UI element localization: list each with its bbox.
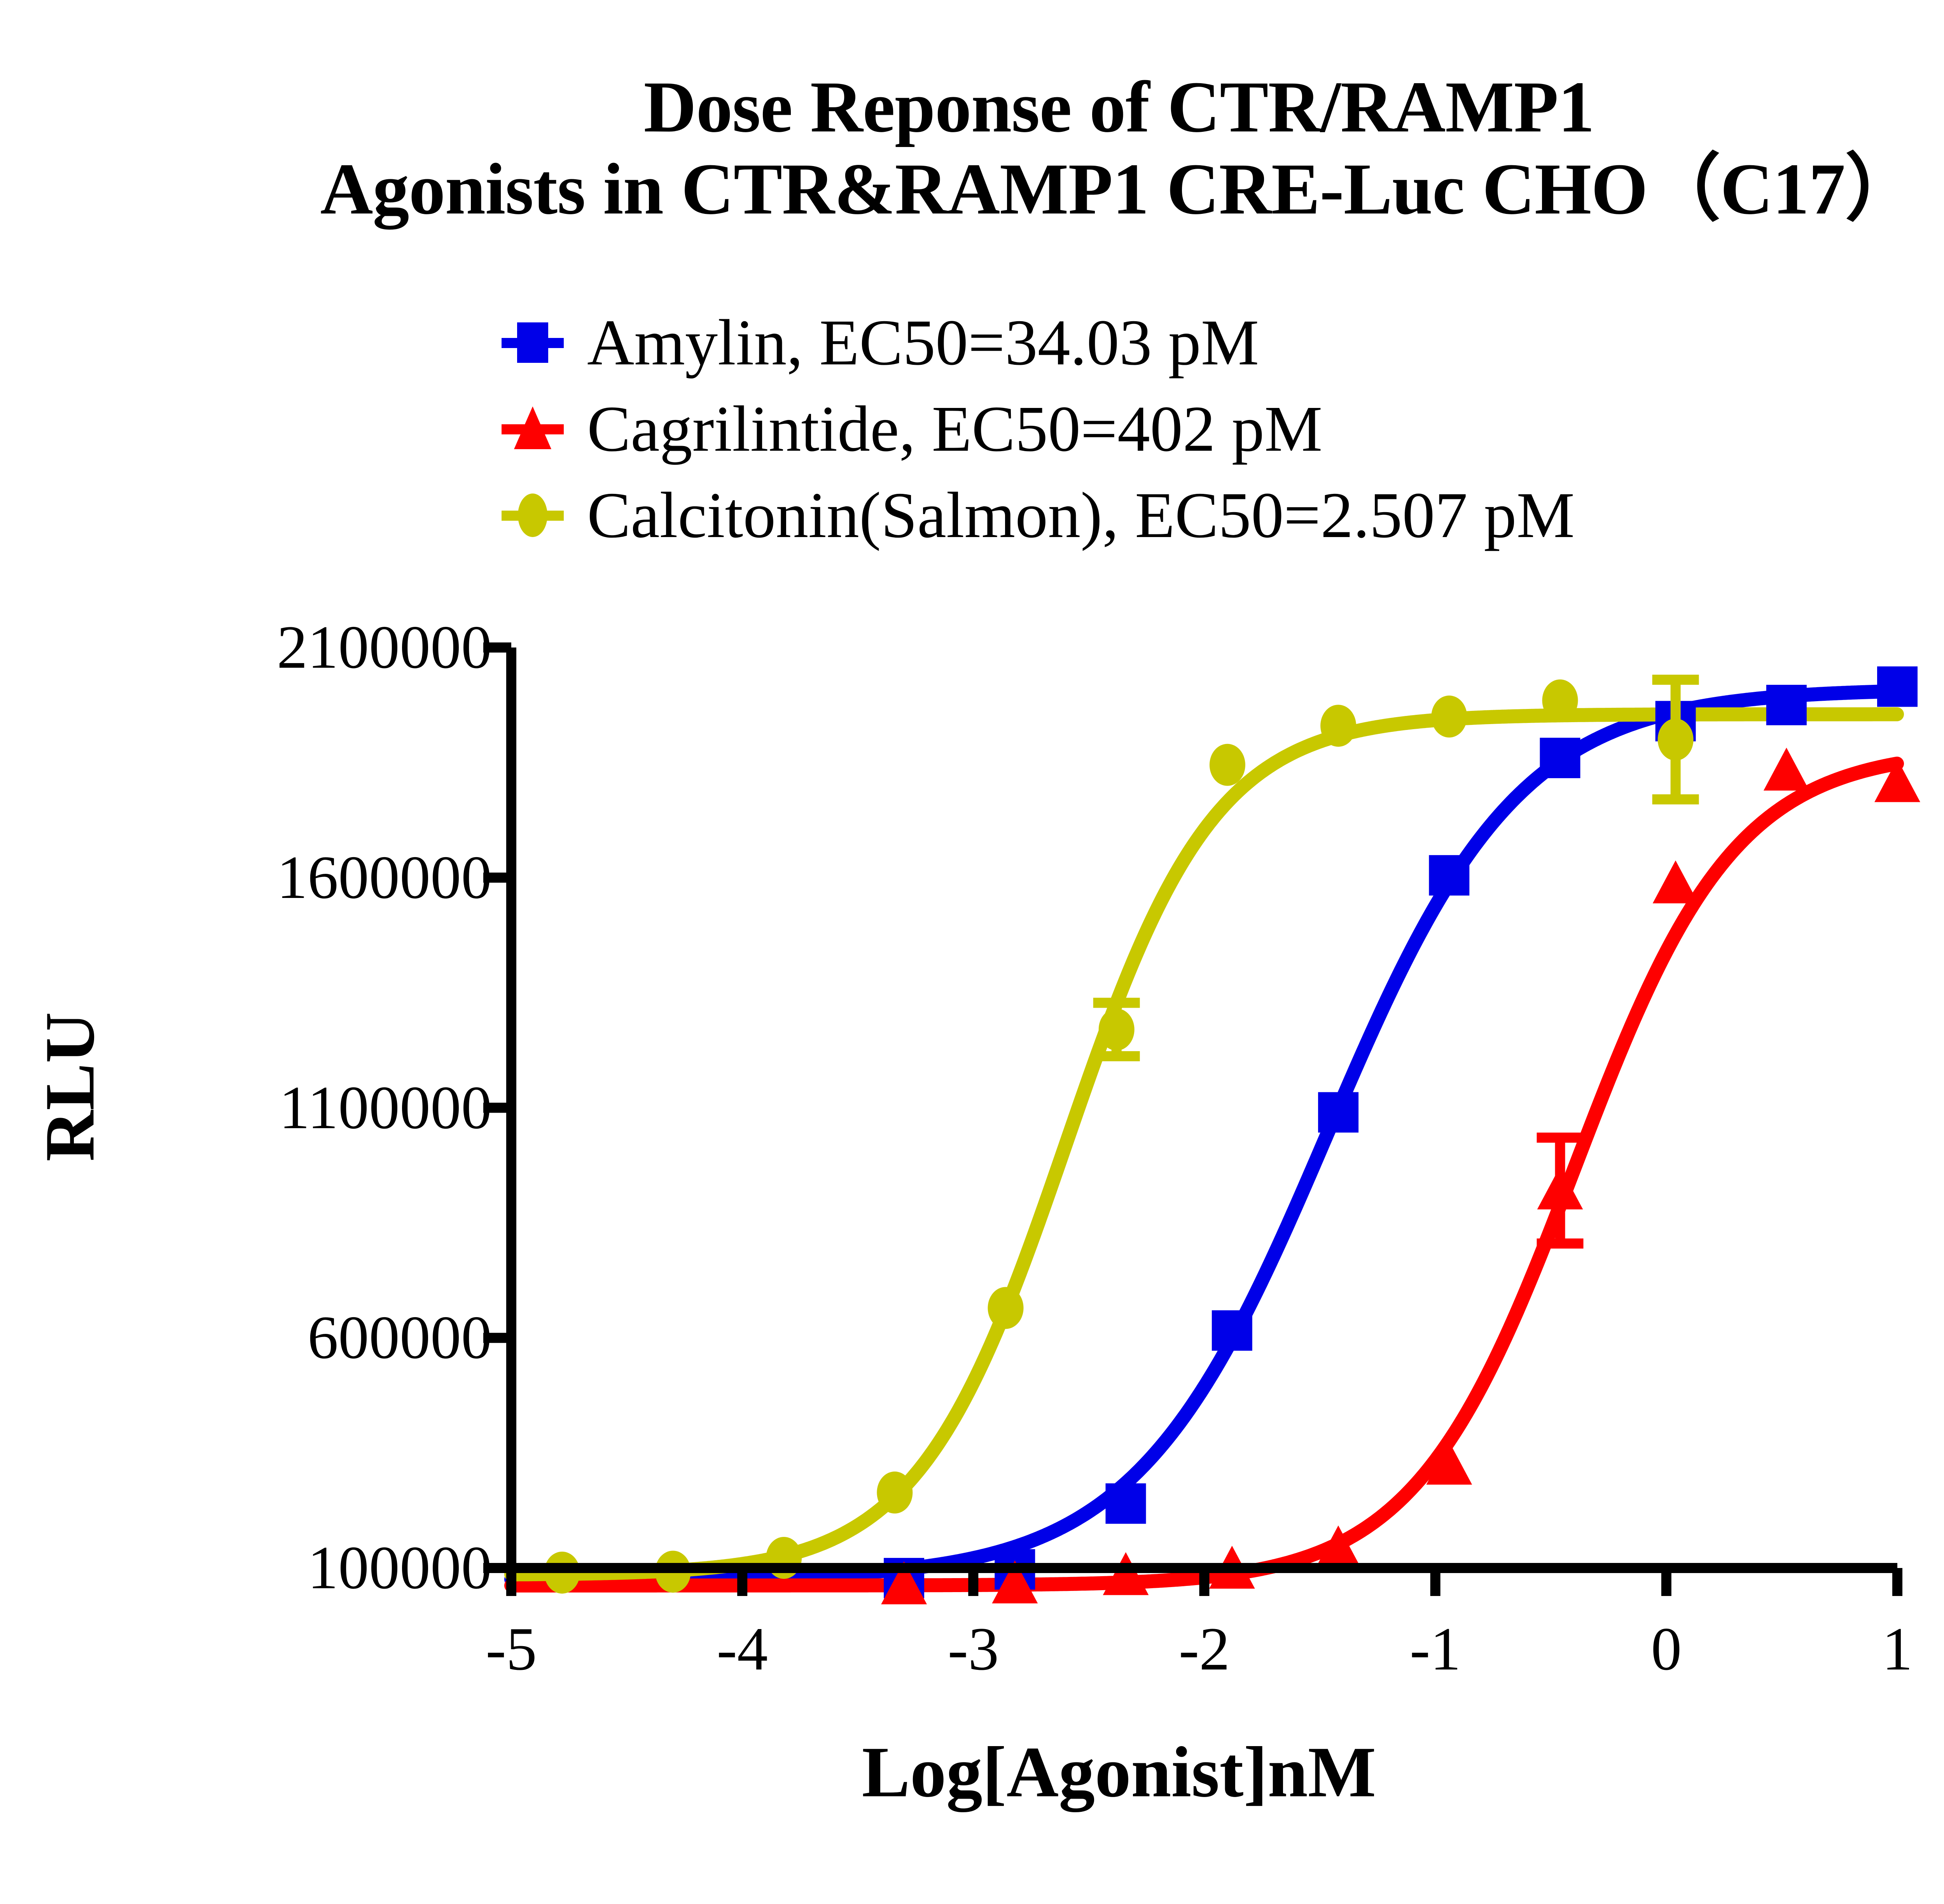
y-tick-label: 1600000 (277, 842, 492, 913)
series-points (544, 679, 1699, 1594)
series-curve (511, 714, 1897, 1575)
series-points (884, 667, 1918, 1598)
axis-lines (483, 647, 1897, 1596)
chart-root: Dose Reponse of CTR/RAMP1 Agonists in CT… (0, 0, 1944, 1904)
y-tick-label: 600000 (308, 1302, 492, 1373)
y-tick-label: 1100000 (279, 1073, 492, 1143)
y-tick-label: 100000 (308, 1533, 492, 1603)
y-tick-label: 2100000 (277, 612, 492, 683)
x-tick-label: 1 (1882, 1614, 1913, 1685)
x-tick-label: -1 (1410, 1614, 1461, 1685)
y-axis-title: RLU (30, 951, 111, 1223)
series-points (881, 748, 1920, 1605)
x-tick-label: -5 (486, 1614, 537, 1685)
x-axis-tick-labels: -5-4-3-2-101 (0, 1614, 1944, 1711)
x-tick-label: -2 (1179, 1614, 1230, 1685)
x-tick-label: 0 (1651, 1614, 1682, 1685)
x-axis-title: Log[Agonist]nM (0, 1731, 1944, 1814)
x-tick-label: -3 (948, 1614, 999, 1685)
x-tick-label: -4 (717, 1614, 768, 1685)
